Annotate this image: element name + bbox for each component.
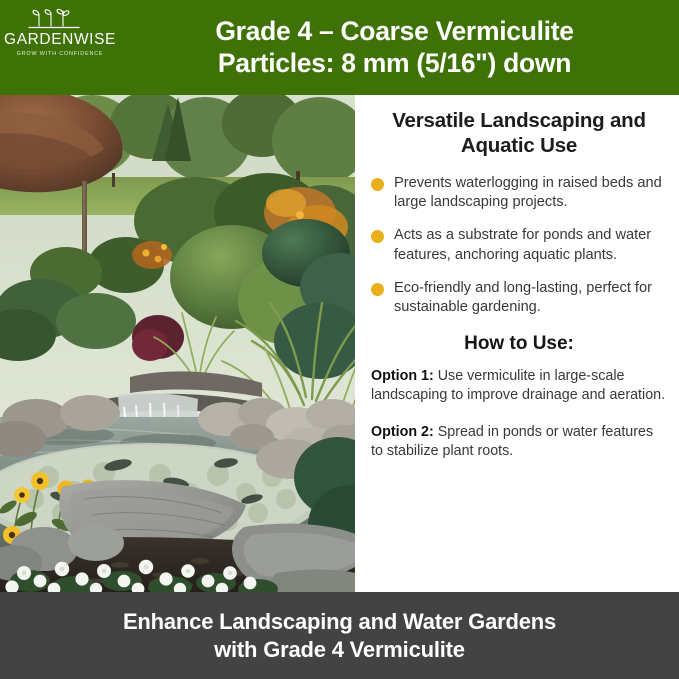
footer-text: Enhance Landscaping and Water Gardens wi… (123, 608, 556, 663)
list-item: Eco-friendly and long-lasting, perfect f… (371, 279, 667, 317)
bullet-text: Acts as a substrate for ponds and water … (394, 226, 667, 264)
brand-tagline: GROW WITH CONFIDENCE (17, 51, 104, 57)
benefit-list: Prevents waterlogging in raised beds and… (371, 174, 667, 331)
footer-line2: with Grade 4 Vermiculite (123, 636, 556, 664)
how-to-use-heading: How to Use: (371, 333, 667, 355)
bullet-dot-icon (371, 283, 384, 296)
option-2: Option 2: Spread in ponds or water featu… (371, 423, 667, 461)
option-1-label: Option 1: (371, 368, 434, 384)
garden-pond-landscaping-photo (0, 95, 355, 592)
bullet-dot-icon (371, 230, 384, 243)
header-banner: GARDENWISE GROW WITH CONFIDENCE Grade 4 … (0, 0, 679, 95)
list-item: Prevents waterlogging in raised beds and… (371, 174, 667, 212)
header-title-line2: Particles: 8 mm (5/16") down (118, 48, 671, 79)
body-section: Versatile Landscaping and Aquatic Use Pr… (0, 95, 679, 592)
panel-heading: Versatile Landscaping and Aquatic Use (371, 109, 667, 158)
bullet-text: Eco-friendly and long-lasting, perfect f… (394, 279, 667, 317)
list-item: Acts as a substrate for ponds and water … (371, 226, 667, 264)
option-2-label: Option 2: (371, 424, 434, 440)
bullet-text: Prevents waterlogging in raised beds and… (394, 174, 667, 212)
footer-banner: Enhance Landscaping and Water Gardens wi… (0, 592, 679, 679)
three-sprouts-icon (27, 6, 93, 32)
bullet-dot-icon (371, 178, 384, 191)
header-title-line1: Grade 4 – Coarse Vermiculite (215, 16, 573, 46)
brand-name: GARDENWISE (4, 32, 116, 48)
content-panel: Versatile Landscaping and Aquatic Use Pr… (355, 95, 679, 592)
brand-logo: GARDENWISE GROW WITH CONFIDENCE (6, 6, 114, 57)
footer-line1: Enhance Landscaping and Water Gardens (123, 609, 556, 634)
product-infographic: GARDENWISE GROW WITH CONFIDENCE Grade 4 … (0, 0, 679, 679)
option-1: Option 1: Use vermiculite in large-scale… (371, 367, 667, 405)
